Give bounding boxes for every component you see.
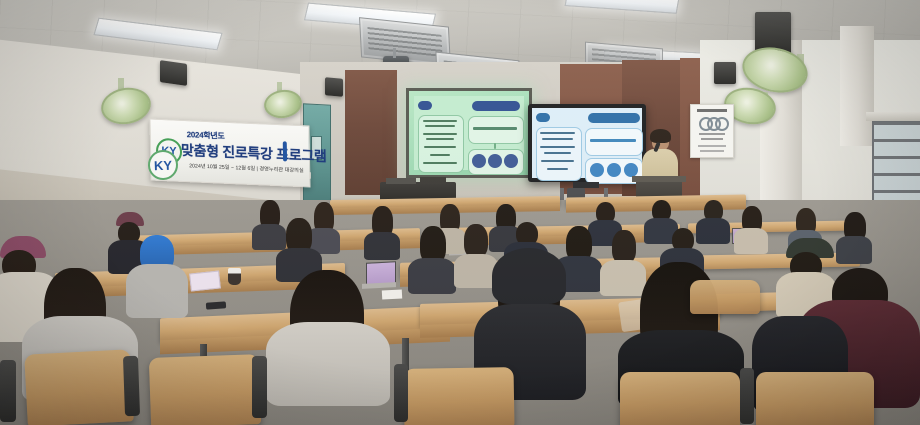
- student-body: [734, 228, 768, 254]
- slide-text-line: [542, 138, 573, 140]
- slide-right-upper-box: [585, 128, 643, 156]
- poster-text-line: [699, 133, 725, 135]
- chair-arm: [252, 356, 267, 418]
- front-projection-screen: [406, 88, 532, 178]
- right-pillar: [840, 26, 874, 146]
- slide-title-chip: [536, 113, 550, 122]
- wall-speaker: [325, 77, 343, 97]
- slide-text-line: [423, 120, 457, 122]
- desk-row-right: [690, 253, 860, 270]
- chair-back[interactable]: [149, 354, 261, 425]
- poster-text-line: [698, 145, 726, 147]
- lecture-hall-photo: KY 2024학년도 맞춤형 진로특강 프로그램 2024년 10월 25일 ~…: [0, 0, 920, 425]
- beverage-cup: [228, 268, 241, 285]
- slide-header-bar: [472, 101, 520, 111]
- slide-title-chip: [418, 101, 432, 110]
- presenter-hair: [650, 129, 671, 143]
- student-body: [364, 232, 400, 260]
- event-banner: KY 2024학년도 맞춤형 진로특강 프로그램 2024년 10월 25일 ~…: [149, 118, 310, 187]
- slide-right-upper-box: [468, 116, 524, 144]
- displayed-slide: [532, 108, 642, 178]
- wall-speaker: [160, 60, 187, 86]
- chair-back[interactable]: [403, 367, 514, 425]
- smartphone[interactable]: [206, 301, 226, 309]
- poster-text-line: [701, 138, 723, 140]
- slide-text-line: [473, 127, 517, 130]
- slide-header-bar: [588, 113, 640, 123]
- student-body: [266, 322, 390, 406]
- student-body: [696, 218, 730, 244]
- podium-top: [632, 176, 686, 182]
- slide-text-line: [423, 133, 457, 135]
- student-body: [836, 236, 872, 264]
- slide-circle: [488, 154, 502, 168]
- slide-left-panel: [536, 127, 582, 181]
- slide-text-line: [590, 139, 636, 142]
- poster-header-bar: [697, 109, 727, 112]
- front-wood-panel: [345, 70, 397, 195]
- slide-text-line: [541, 160, 574, 162]
- student-hood: [492, 248, 566, 304]
- cabinet-device: [386, 178, 416, 184]
- student-body: [126, 264, 188, 318]
- cabinet-device: [420, 177, 446, 184]
- window-sill: [866, 112, 920, 121]
- slide-text-line: [423, 162, 457, 164]
- document-sheet: [189, 270, 221, 291]
- banner-accent-mark: [283, 141, 287, 161]
- slide-circle: [607, 163, 621, 177]
- slide-circle: [590, 163, 604, 177]
- chair-back[interactable]: [756, 372, 874, 425]
- wall-speaker: [714, 62, 736, 84]
- chair-back[interactable]: [24, 349, 134, 425]
- slide-circle: [624, 163, 638, 177]
- poster-text-line: [700, 150, 724, 152]
- student-head: [464, 224, 488, 258]
- slide-text-line: [547, 168, 568, 170]
- student-body: [252, 224, 286, 250]
- slide-left-panel: [418, 115, 464, 173]
- chair-back[interactable]: [620, 372, 740, 425]
- student-body: [600, 260, 646, 296]
- student-head: [612, 230, 636, 264]
- slide-text-line: [544, 152, 571, 154]
- chair-arm: [394, 364, 408, 422]
- wall-poster: [690, 104, 734, 158]
- front-flat-panel-display: [528, 104, 646, 182]
- chair-arm: [123, 356, 140, 416]
- projected-slide: [414, 96, 524, 170]
- document-sheet: [382, 289, 402, 299]
- chair-arm: [0, 360, 16, 422]
- projector-mount: [393, 48, 396, 58]
- slide-text-line: [540, 132, 575, 134]
- chair-arm: [740, 368, 754, 424]
- chair-back-right[interactable]: [690, 280, 760, 314]
- slide-text-line: [540, 146, 575, 148]
- poster-logo-icon: [715, 117, 729, 131]
- slide-text-line: [426, 138, 454, 140]
- slide-circle: [504, 154, 518, 168]
- slide-text-line: [424, 146, 456, 148]
- slide-text-line: [425, 125, 455, 127]
- slide-circle: [472, 154, 486, 168]
- slide-text-line: [430, 154, 450, 156]
- student-body: [408, 258, 456, 294]
